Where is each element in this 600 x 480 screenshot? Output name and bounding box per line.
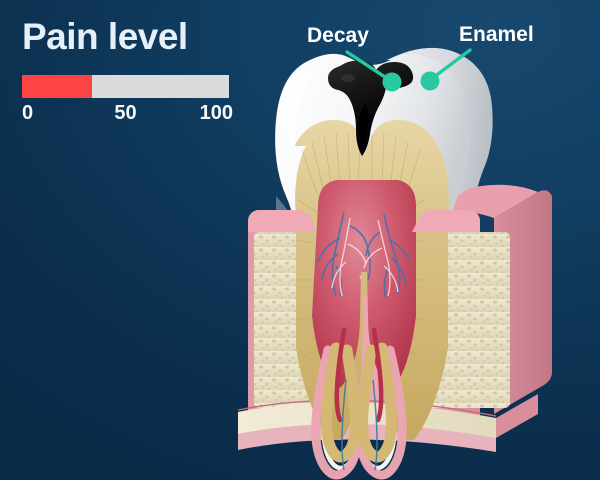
pain-level-title: Pain level bbox=[22, 18, 252, 55]
tooth-cross-section-illustration bbox=[232, 0, 600, 480]
pain-level-scale: 0 50 100 bbox=[22, 100, 229, 126]
pain-level-panel: Pain level 0 50 100 bbox=[22, 18, 252, 126]
callout-label-enamel: Enamel bbox=[459, 24, 534, 45]
pain-level-bar bbox=[22, 75, 229, 98]
callout-label-decay: Decay bbox=[307, 25, 369, 46]
scale-tick-min: 0 bbox=[22, 100, 33, 126]
scale-tick-max: 100 bbox=[200, 100, 233, 126]
illustration-canvas: Decay Enamel Pain level 0 50 100 bbox=[0, 0, 600, 480]
scale-tick-mid: 50 bbox=[114, 100, 136, 126]
pain-level-bar-fill bbox=[22, 75, 92, 98]
